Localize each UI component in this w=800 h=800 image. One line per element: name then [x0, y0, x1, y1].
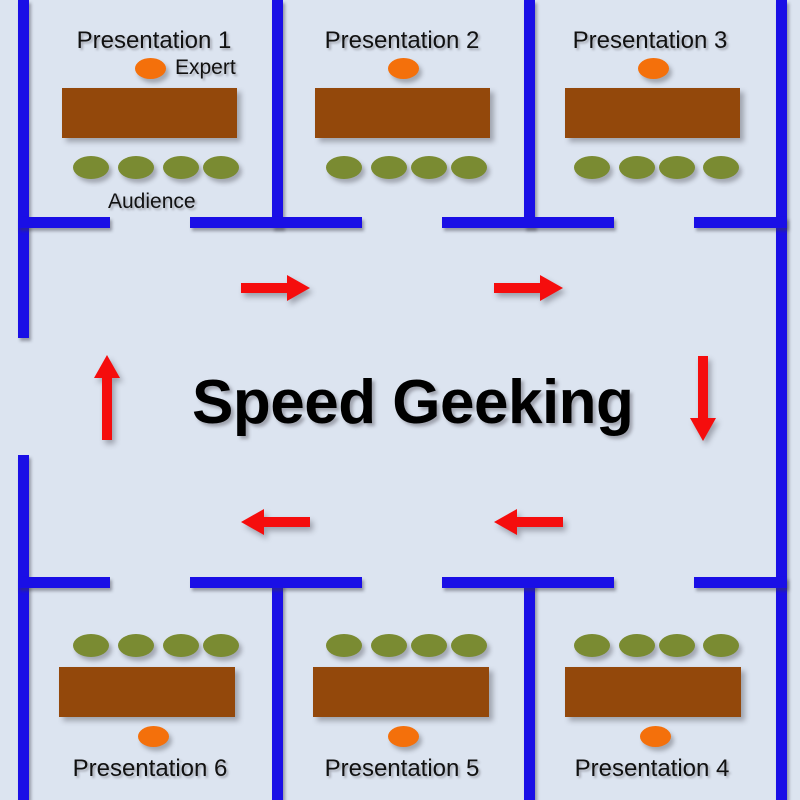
expert-dot-room-5 [388, 726, 419, 747]
wall-top-corridor-seg-1 [18, 217, 110, 228]
arrow-down-icon [689, 356, 717, 442]
wall-top-corridor-seg-3 [442, 217, 614, 228]
arrow-up-icon [93, 355, 121, 441]
arrow-left-icon [494, 508, 564, 536]
audience-dot [203, 156, 239, 179]
legend-label-expert: Expert [175, 56, 236, 80]
arrow-left-icon [241, 508, 311, 536]
audience-dot [659, 634, 695, 657]
audience-dot [703, 634, 739, 657]
audience-dot [703, 156, 739, 179]
legend-label-audience: Audience [108, 190, 196, 214]
table-room-1 [62, 88, 237, 138]
expert-dot-room-1 [135, 58, 166, 79]
audience-dot [619, 156, 655, 179]
table-room-6 [59, 667, 235, 717]
table-room-5 [313, 667, 489, 717]
audience-dot [203, 634, 239, 657]
room-label-presentation-6: Presentation 6 [70, 755, 230, 783]
audience-dot [451, 156, 487, 179]
expert-dot-room-2 [388, 58, 419, 79]
audience-dot [659, 156, 695, 179]
audience-dot [451, 634, 487, 657]
table-room-2 [315, 88, 490, 138]
expert-dot-room-3 [638, 58, 669, 79]
expert-dot-room-4 [640, 726, 671, 747]
audience-dot [574, 156, 610, 179]
wall-top-corridor-seg-2 [190, 217, 362, 228]
arrow-right-icon [241, 274, 311, 302]
room-label-presentation-1: Presentation 1 [74, 27, 234, 55]
audience-dot [73, 634, 109, 657]
arrow-right-icon [494, 274, 564, 302]
wall-divider-bottom-1 [272, 578, 283, 800]
table-room-4 [565, 667, 741, 717]
room-label-presentation-2: Presentation 2 [322, 27, 482, 55]
room-label-presentation-3: Presentation 3 [570, 27, 730, 55]
room-label-presentation-4: Presentation 4 [572, 755, 732, 783]
wall-bottom-corridor-seg-1 [18, 577, 110, 588]
wall-bottom-corridor-seg-3 [442, 577, 614, 588]
speed-geeking-diagram: Presentation 1 Expert Audience Presentat… [0, 0, 800, 800]
wall-divider-top-1 [272, 0, 283, 228]
audience-dot [411, 634, 447, 657]
wall-divider-top-2 [524, 0, 535, 228]
wall-bottom-corridor-seg-4 [694, 577, 787, 588]
audience-dot [163, 634, 199, 657]
wall-divider-bottom-2 [524, 578, 535, 800]
audience-dot [326, 156, 362, 179]
expert-dot-room-6 [138, 726, 169, 747]
page-title: Speed Geeking [192, 367, 633, 438]
wall-top-corridor-seg-4 [694, 217, 787, 228]
audience-dot [73, 156, 109, 179]
audience-dot [326, 634, 362, 657]
audience-dot [118, 156, 154, 179]
wall-left-lower [18, 455, 29, 800]
audience-dot [574, 634, 610, 657]
audience-dot [371, 634, 407, 657]
audience-dot [163, 156, 199, 179]
audience-dot [371, 156, 407, 179]
wall-right [776, 0, 787, 800]
audience-dot [411, 156, 447, 179]
wall-left-upper [18, 0, 29, 338]
audience-dot [619, 634, 655, 657]
wall-bottom-corridor-seg-2 [190, 577, 362, 588]
room-label-presentation-5: Presentation 5 [322, 755, 482, 783]
table-room-3 [565, 88, 740, 138]
audience-dot [118, 634, 154, 657]
